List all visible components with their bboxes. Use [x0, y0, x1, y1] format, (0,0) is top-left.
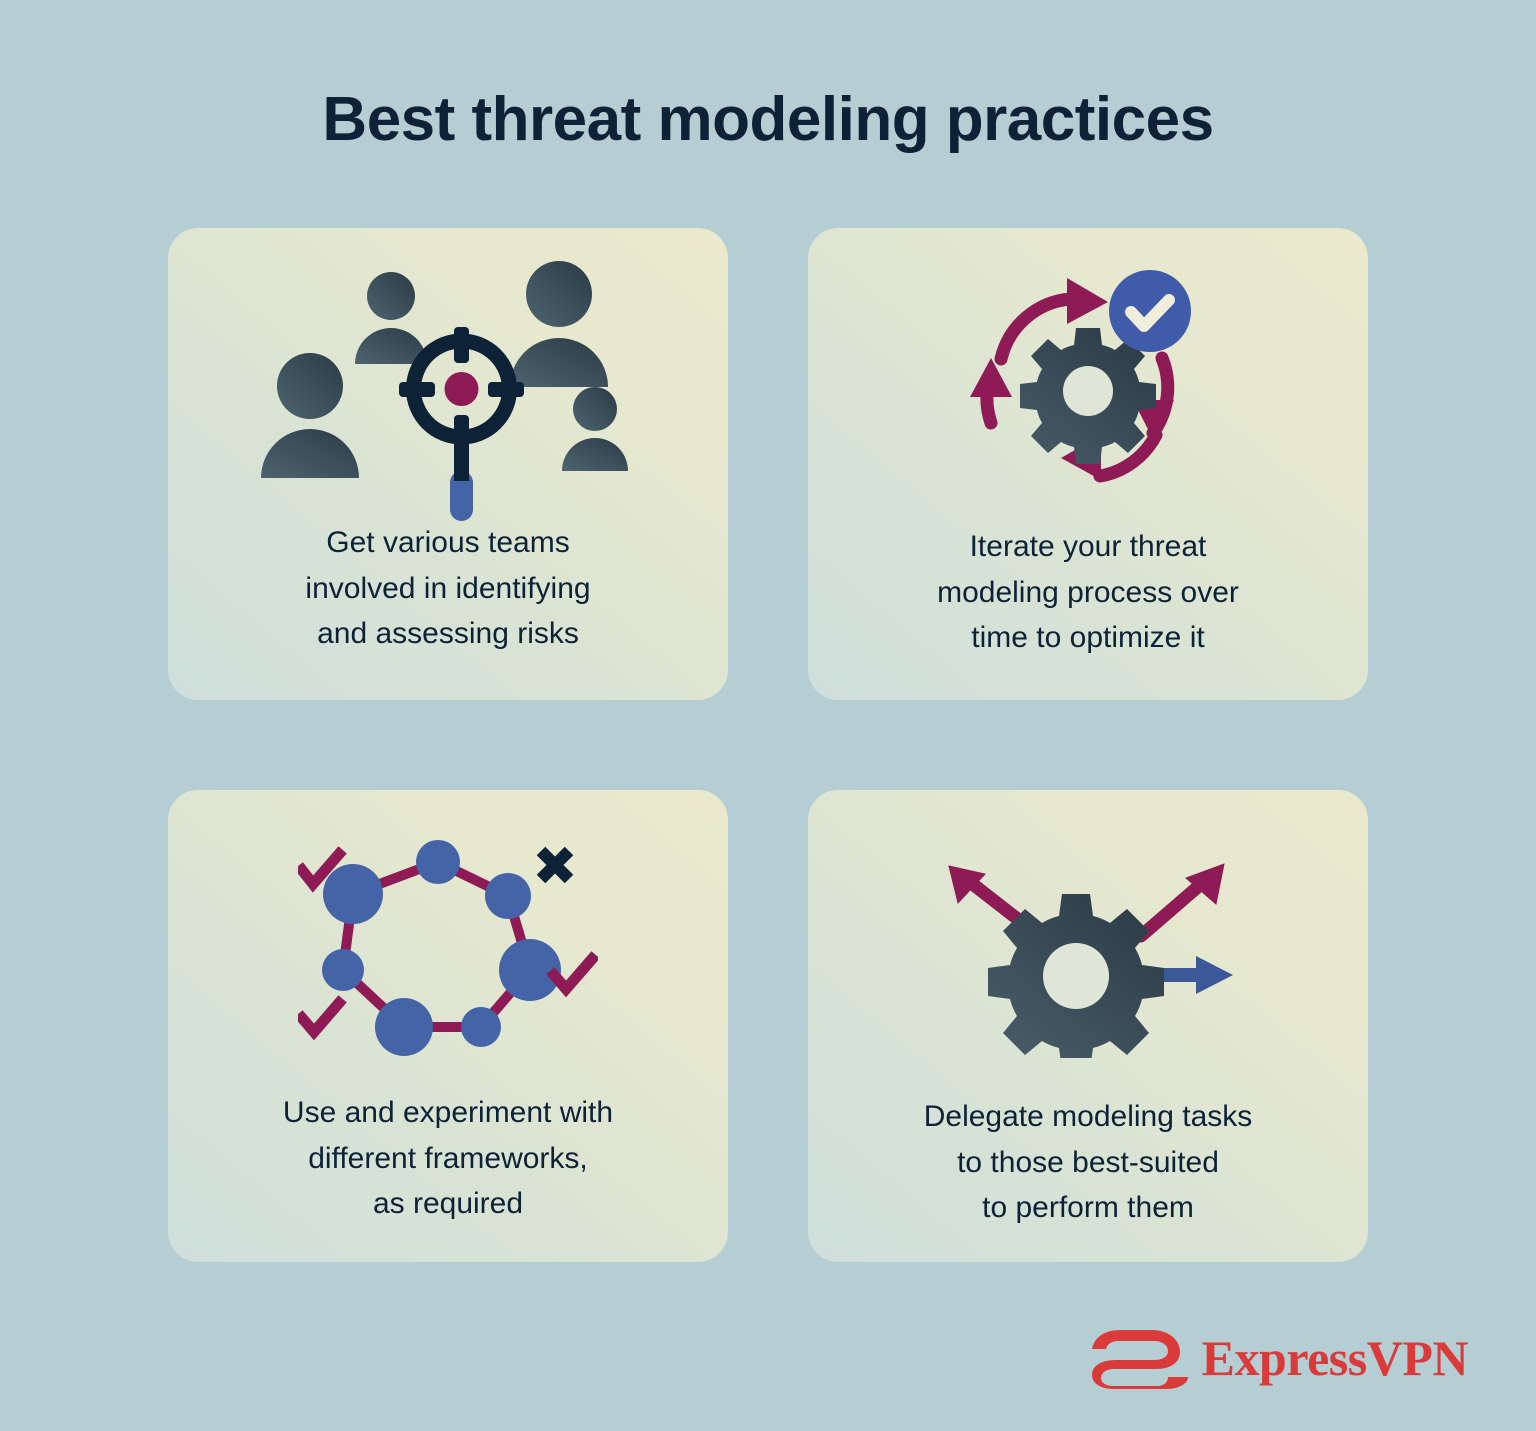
practices-grid: Get various teams involved in identifyin…: [168, 228, 1368, 1262]
practice-card-frameworks: Use and experiment with different framew…: [168, 790, 728, 1262]
gear-arrows-icon: [928, 842, 1248, 1074]
person-silhouette: [510, 261, 608, 387]
gear-cycle-check-icon: [943, 254, 1233, 522]
infographic-root: Best threat modeling practices: [0, 0, 1536, 1431]
expressvpn-logo: ExpressVPN: [1092, 1327, 1468, 1389]
arrow-up-left: [949, 866, 1024, 924]
card-caption: Iterate your threat modeling process ove…: [909, 524, 1267, 661]
check-badge: [1109, 270, 1191, 352]
people-target-icon: [248, 246, 648, 526]
network-nodes-icon: [298, 824, 598, 1074]
x-mark-icon: [541, 851, 569, 879]
card-caption: Use and experiment with different framew…: [255, 1090, 641, 1227]
arrow-up-right: [1141, 864, 1224, 936]
practice-card-teams-target: Get various teams involved in identifyin…: [168, 228, 728, 700]
person-silhouette: [562, 387, 628, 471]
card-caption: Delegate modeling tasks to those best-su…: [896, 1094, 1281, 1231]
target-center-dot: [445, 372, 479, 406]
practice-card-iterate-process: Iterate your threat modeling process ove…: [808, 228, 1368, 700]
check-icon: [302, 1003, 339, 1032]
practice-card-delegate: Delegate modeling tasks to those best-su…: [808, 790, 1368, 1262]
page-title: Best threat modeling practices: [0, 86, 1536, 154]
brand-name: ExpressVPN: [1202, 1333, 1468, 1383]
card-caption: Get various teams involved in identifyin…: [277, 520, 618, 657]
expressvpn-e-icon: [1092, 1327, 1188, 1389]
person-silhouette: [355, 272, 427, 364]
person-silhouette: [261, 353, 359, 478]
